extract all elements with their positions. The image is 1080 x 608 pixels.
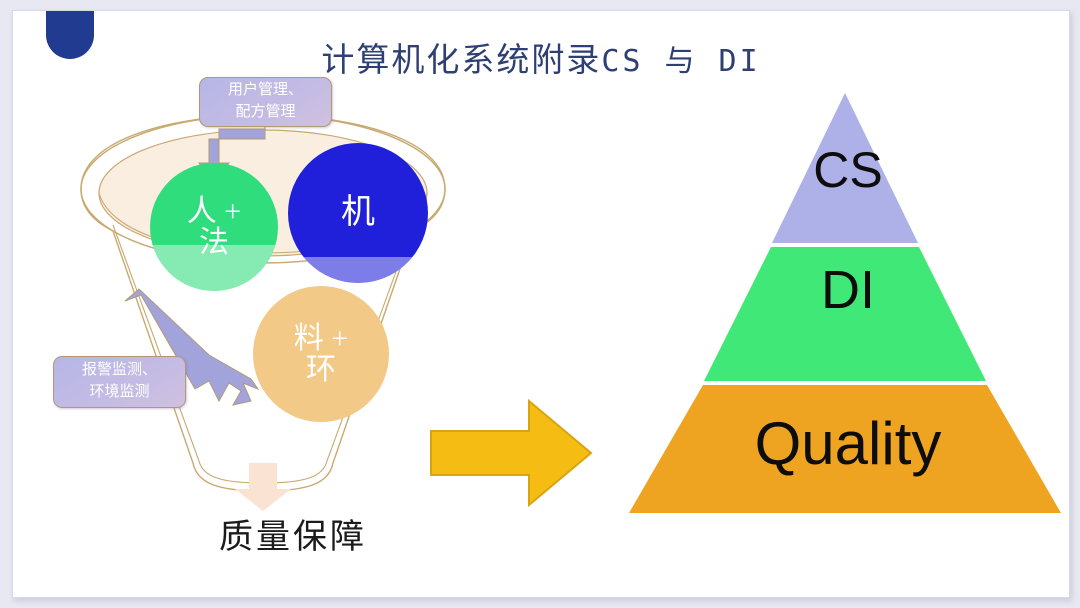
cs-di-quality-pyramid: CS DI Quality [613,71,1070,541]
callout-alarm-monitoring-line2: 环境监测 [82,382,157,404]
callout-user-management-line1: 用户管理、 [228,80,303,102]
pyramid-label-cs: CS [613,141,1070,199]
callout-user-management-line2: 配方管理 [228,102,303,124]
circle-ren-fa-line1: 人 + [187,195,241,228]
page-title: 计算机化系统附录CS 与 DI [13,33,1069,81]
circle-ren-fa-label: 人 + 法 [187,196,241,259]
circle-ren-fa-line2: 法 [199,226,229,259]
circle-liao-huan-line2: 环 [306,353,336,386]
slide-corner-tab [46,10,94,59]
circle-liao-huan-label: 料 + 环 [294,323,348,386]
funnel-bottom-label: 质量保障 [133,509,453,558]
page-title-cn: 计算机化系统附录 [321,43,601,79]
circle-ji-label: 机 [341,195,375,231]
funnel-outlet-arrow [235,463,291,511]
circle-ren-fa: 人 + 法 [150,163,278,291]
pyramid-label-quality: Quality [613,409,1070,478]
callout-user-management[interactable]: 用户管理、 配方管理 [199,77,332,127]
slide-canvas: 计算机化系统附录CS 与 DI [12,10,1070,598]
callout-alarm-monitoring[interactable]: 报警监测、 环境监测 [53,356,186,408]
circle-ji-shade [288,257,428,283]
right-arrow-shape [431,401,591,505]
pyramid-label-di: DI [613,259,1070,321]
right-arrow-icon [421,393,621,513]
circle-liao-huan: 料 + 环 [253,286,389,422]
circle-liao-huan-line1: 料 + [294,322,348,355]
page-title-latin: CS 与 DI [601,44,760,79]
circle-ji: 机 [288,143,428,283]
callout-alarm-monitoring-line1: 报警监测、 [82,360,157,382]
